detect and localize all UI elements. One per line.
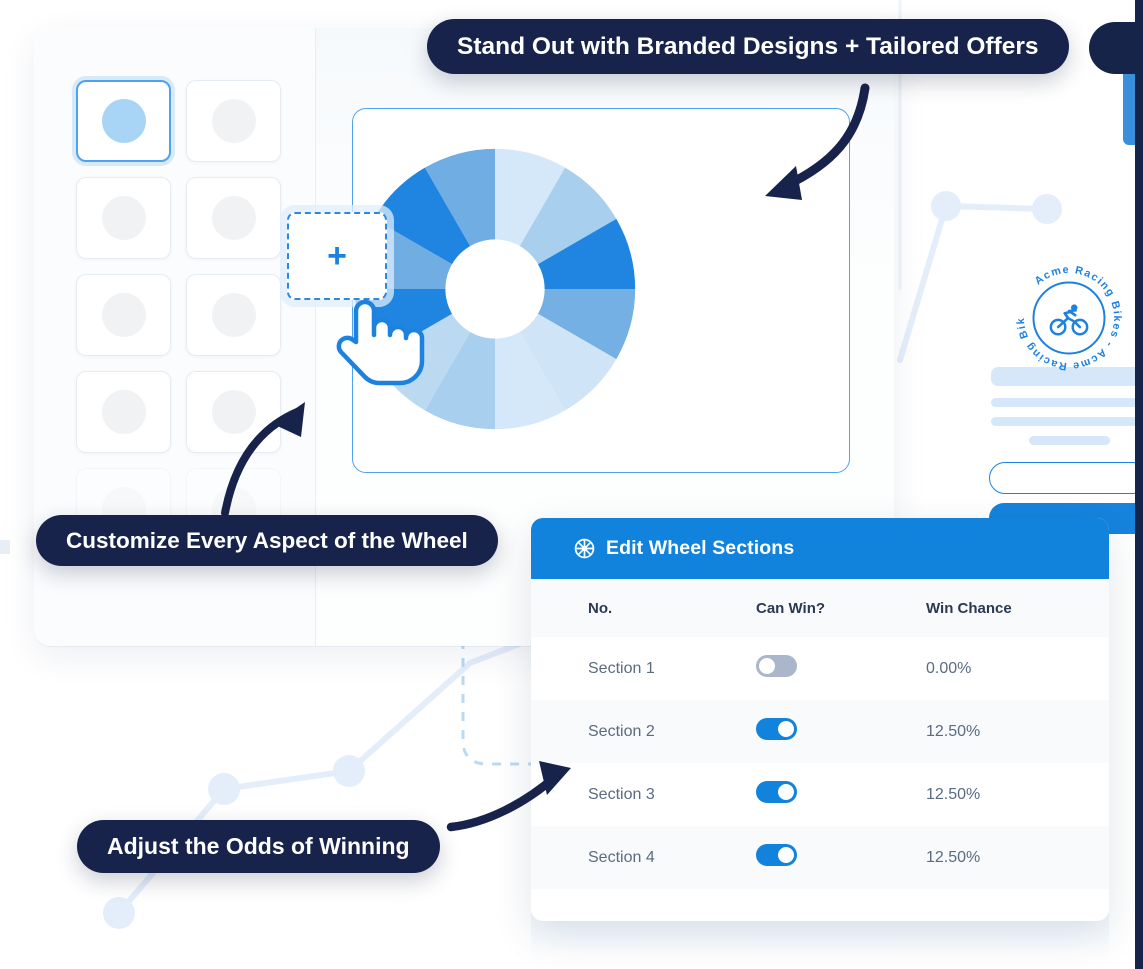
swatch-color-dot bbox=[212, 293, 256, 337]
row-section-name: Section 2 bbox=[531, 723, 756, 741]
wheel-icon bbox=[574, 538, 595, 559]
can-win-toggle[interactable] bbox=[756, 718, 797, 740]
swatch-card-2[interactable] bbox=[186, 80, 281, 162]
text-placeholder-line-3 bbox=[1029, 436, 1110, 445]
swatch-color-dot bbox=[102, 390, 146, 434]
swatch-color-dot bbox=[102, 99, 146, 143]
hand-cursor-icon bbox=[333, 288, 425, 388]
column-header-can-win: Can Win? bbox=[756, 600, 926, 617]
swatch-card-7[interactable] bbox=[76, 371, 171, 453]
callout-customize-wheel: Customize Every Aspect of the Wheel bbox=[36, 515, 498, 566]
row-can-win-cell bbox=[756, 655, 926, 682]
row-section-name: Section 3 bbox=[531, 786, 756, 804]
column-header-win-chance: Win Chance bbox=[926, 600, 1109, 617]
swatch-card-4[interactable] bbox=[186, 177, 281, 259]
edit-wheel-sections-card: Edit Wheel Sections No. Can Win? Win Cha… bbox=[531, 518, 1109, 921]
add-section-button[interactable]: + bbox=[287, 212, 387, 300]
row-win-chance: 12.50% bbox=[926, 723, 1109, 741]
table-row[interactable]: Section 4 12.50% bbox=[531, 826, 1109, 889]
callout-branded-designs: Stand Out with Branded Designs + Tailore… bbox=[427, 19, 1069, 74]
callout-label: Adjust the Odds of Winning bbox=[107, 833, 410, 860]
callout-adjust-odds: Adjust the Odds of Winning bbox=[77, 820, 440, 873]
can-win-toggle[interactable] bbox=[756, 844, 797, 866]
table-column-headers: No. Can Win? Win Chance bbox=[531, 579, 1109, 637]
text-placeholder-line-1 bbox=[991, 398, 1143, 407]
screenshot-root: Acme Racing Bikes - Acme Racing Bikes - … bbox=[0, 0, 1143, 969]
can-win-toggle[interactable] bbox=[756, 781, 797, 803]
swatch-color-dot bbox=[212, 196, 256, 240]
swatch-card-3[interactable] bbox=[76, 177, 171, 259]
text-placeholder-line-2 bbox=[991, 417, 1143, 426]
column-header-no: No. bbox=[531, 600, 756, 617]
swatch-card-1[interactable] bbox=[76, 80, 171, 162]
row-section-name: Section 4 bbox=[531, 849, 756, 867]
right-edge-strip bbox=[1135, 0, 1143, 969]
swatch-grid bbox=[76, 80, 281, 550]
brand-logo-badge: Acme Racing Bikes - Acme Racing Bikes - bbox=[1008, 257, 1130, 379]
swatch-card-5[interactable] bbox=[76, 274, 171, 356]
toggle-knob bbox=[778, 784, 794, 800]
swatch-color-dot bbox=[102, 293, 146, 337]
table-header-bar: Edit Wheel Sections bbox=[531, 518, 1109, 579]
callout-label: Stand Out with Branded Designs + Tailore… bbox=[457, 33, 1039, 61]
left-edge-notch bbox=[0, 540, 10, 554]
cyclist-icon bbox=[1051, 304, 1087, 334]
callout-label: Customize Every Aspect of the Wheel bbox=[66, 528, 468, 554]
right-edge-blob bbox=[1089, 22, 1135, 74]
table-row[interactable]: Section 3 12.50% bbox=[531, 763, 1109, 826]
swatch-card-8[interactable] bbox=[186, 371, 281, 453]
secondary-button-placeholder[interactable] bbox=[989, 462, 1143, 494]
row-can-win-cell bbox=[756, 718, 926, 745]
toggle-knob bbox=[778, 847, 794, 863]
table-row[interactable]: Section 2 12.50% bbox=[531, 700, 1109, 763]
plus-icon: + bbox=[327, 239, 347, 273]
row-section-name: Section 1 bbox=[531, 660, 756, 678]
swatch-color-dot bbox=[212, 99, 256, 143]
swatch-color-dot bbox=[212, 390, 256, 434]
row-win-chance: 12.50% bbox=[926, 786, 1109, 804]
row-can-win-cell bbox=[756, 844, 926, 871]
row-win-chance: 0.00% bbox=[926, 660, 1109, 678]
swatch-card-6[interactable] bbox=[186, 274, 281, 356]
table-row[interactable]: Section 1 0.00% bbox=[531, 637, 1109, 700]
row-win-chance: 12.50% bbox=[926, 849, 1109, 867]
toggle-knob bbox=[759, 658, 775, 674]
swatch-color-dot bbox=[102, 196, 146, 240]
can-win-toggle[interactable] bbox=[756, 655, 797, 677]
row-can-win-cell bbox=[756, 781, 926, 808]
wheel-preview-card: Acme Racing Bikes - Acme Racing Bikes - bbox=[352, 108, 850, 473]
table-title: Edit Wheel Sections bbox=[606, 537, 794, 560]
toggle-knob bbox=[778, 721, 794, 737]
